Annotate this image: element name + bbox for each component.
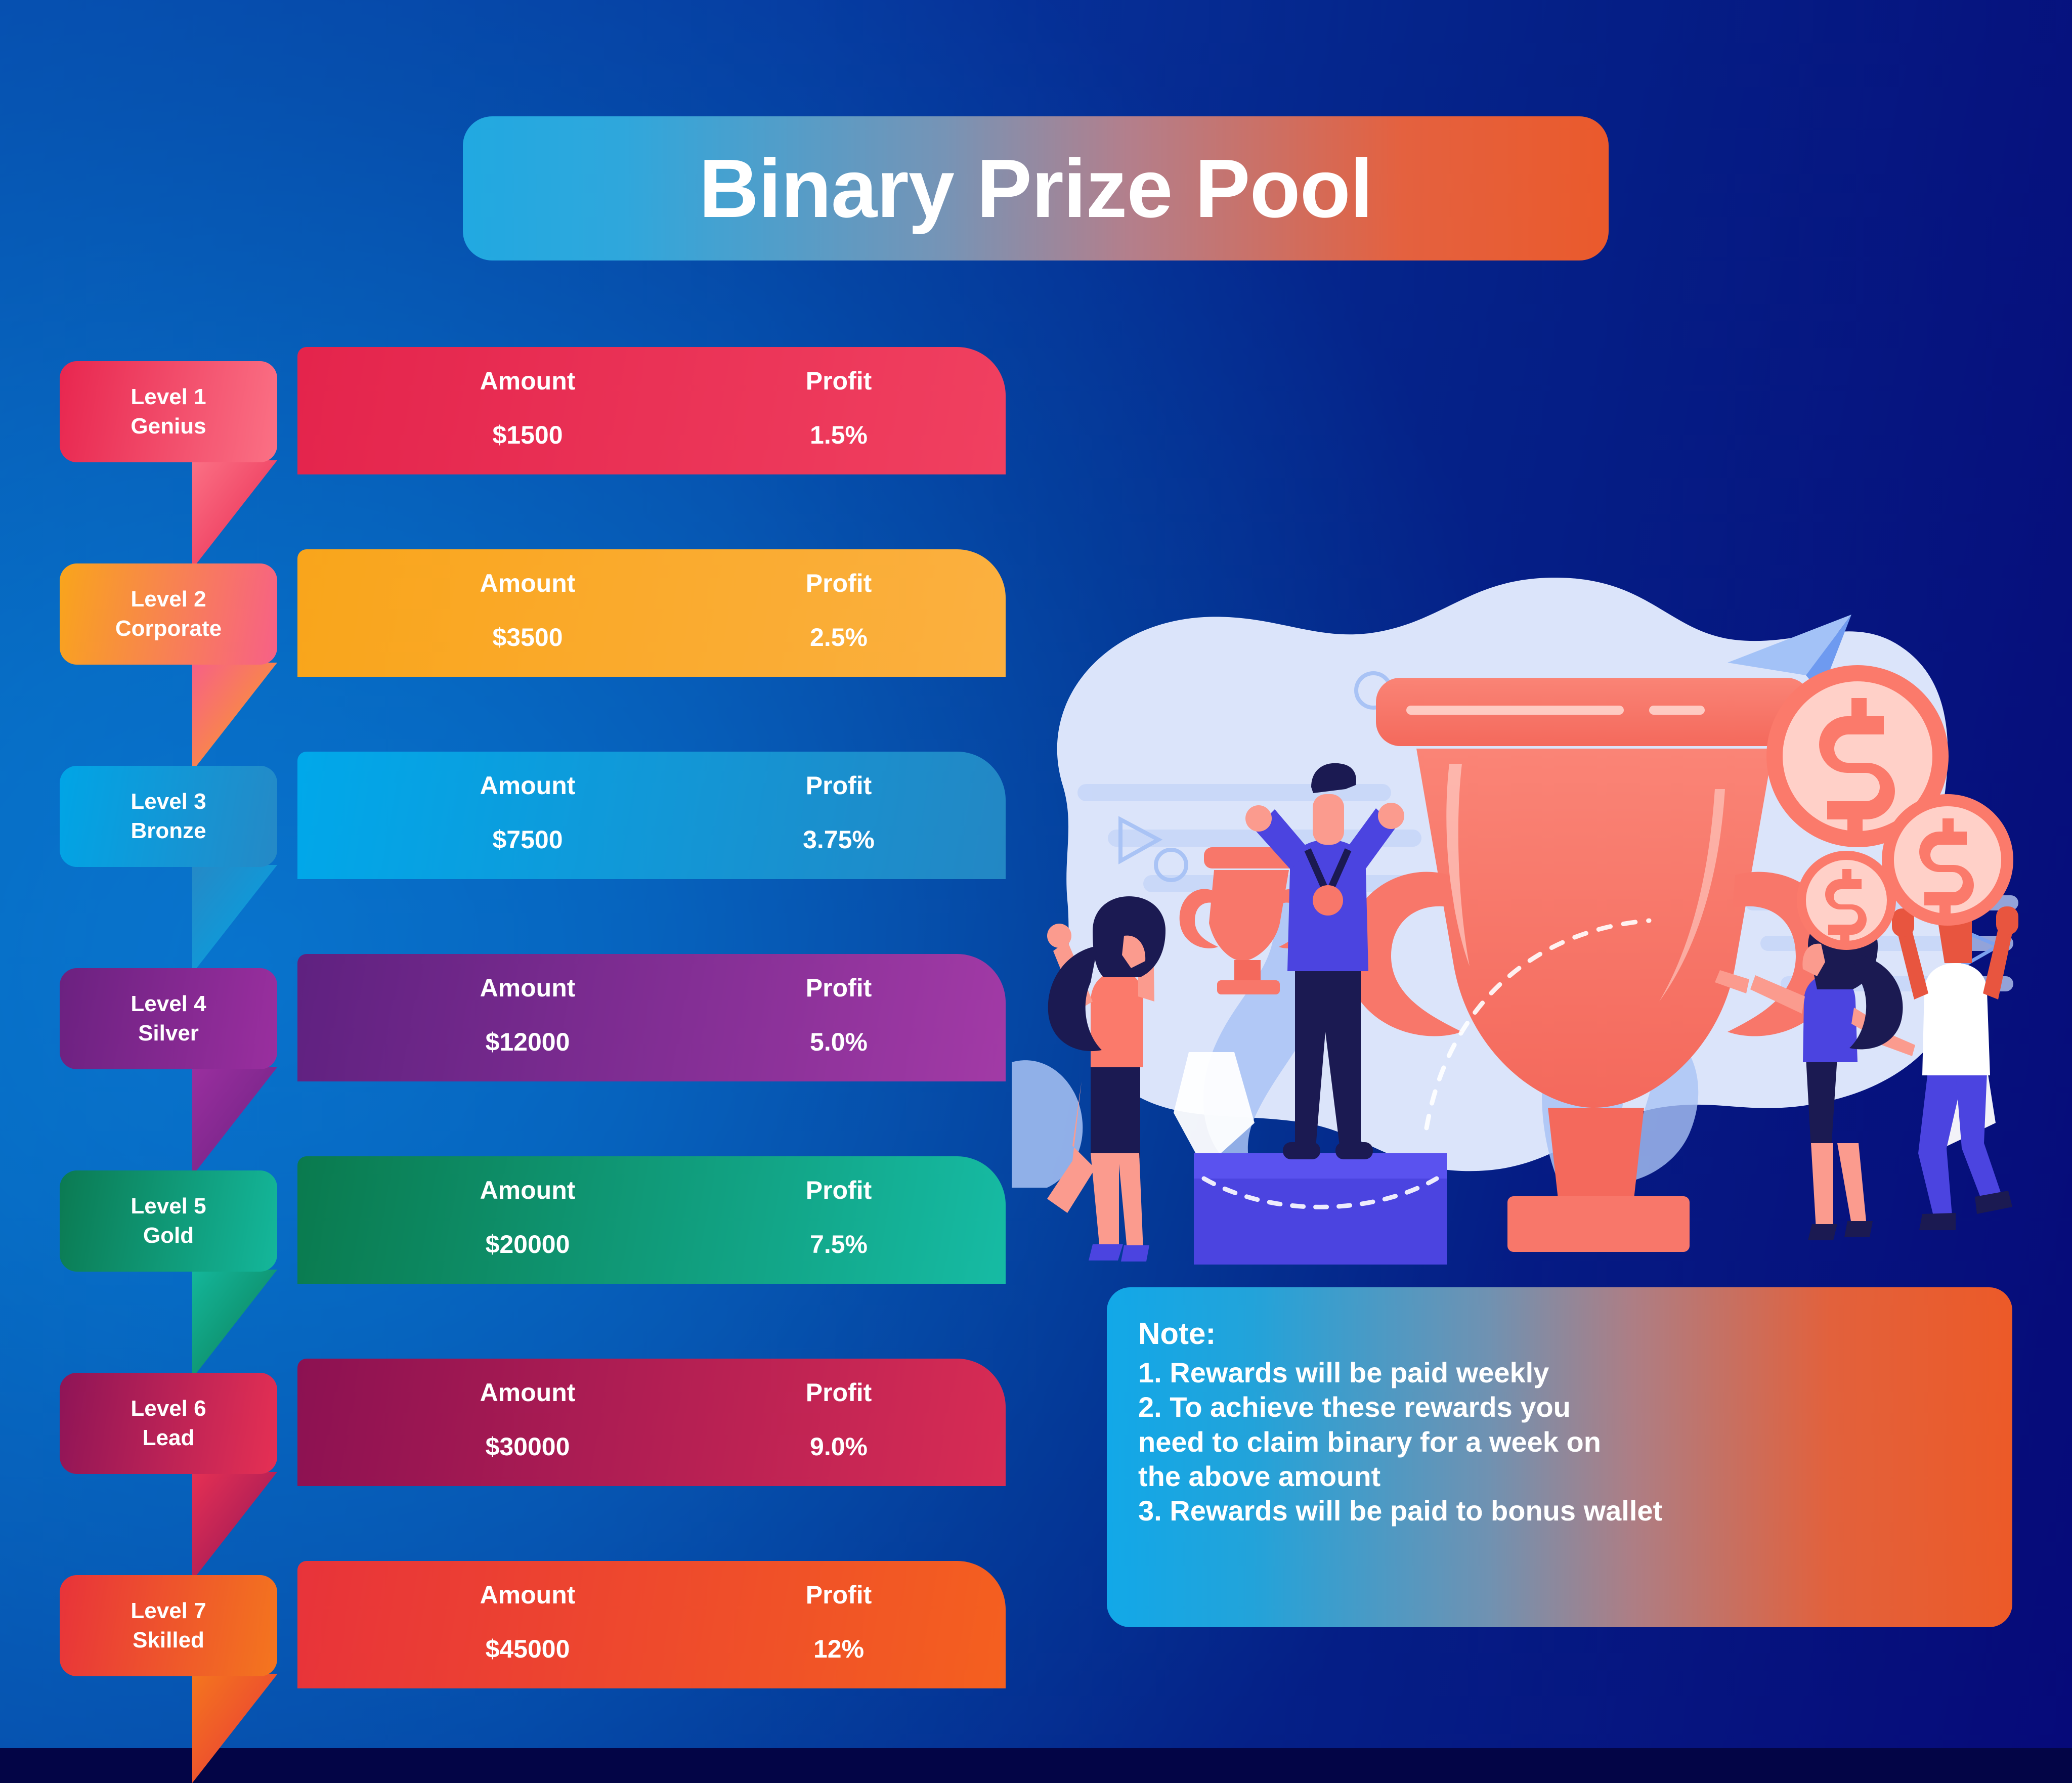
prize-level-bar: Amount$3500Profit2.5%: [297, 549, 1006, 677]
profit-header: Profit: [806, 1379, 872, 1407]
prize-level-bar: Amount$45000Profit12%: [297, 1561, 1006, 1688]
level-number: Level 1: [131, 382, 206, 412]
note-line: 3. Rewards will be paid to bonus wallet: [1138, 1494, 2012, 1528]
prize-level-bar: Amount$12000Profit5.0%: [297, 954, 1006, 1081]
profit-header: Profit: [806, 570, 872, 597]
note-title: Note:: [1138, 1315, 2012, 1353]
level-rank: Bronze: [131, 816, 206, 846]
amount-value: $12000: [486, 1028, 570, 1056]
amount-value: $30000: [486, 1433, 570, 1461]
profit-header: Profit: [806, 974, 872, 1002]
level-tab[interactable]: Level 7Skilled: [60, 1575, 277, 1676]
profit-column: Profit7.5%: [748, 1177, 930, 1258]
amount-column: Amount$1500: [421, 367, 634, 449]
amount-header: Amount: [480, 1177, 576, 1204]
amount-column: Amount$12000: [421, 974, 634, 1056]
profit-value: 7.5%: [810, 1231, 868, 1258]
level-number: Level 7: [131, 1596, 206, 1626]
level-rank: Genius: [131, 412, 206, 441]
amount-value: $3500: [492, 624, 563, 651]
profit-value: 3.75%: [803, 826, 875, 854]
profit-column: Profit3.75%: [748, 772, 930, 854]
note-line: 1. Rewards will be paid weekly: [1138, 1356, 2012, 1390]
profit-header: Profit: [806, 367, 872, 395]
level-tab[interactable]: Level 1Genius: [60, 361, 277, 462]
prize-level-row[interactable]: Amount$20000Profit7.5%Level 5Gold: [0, 1170, 1062, 1302]
amount-value: $20000: [486, 1231, 570, 1258]
winner-podium: [1194, 1153, 1447, 1265]
dollar-coin: [1797, 851, 1896, 950]
dollar-coin: [1882, 794, 2013, 926]
note-line-list: 1. Rewards will be paid weekly2. To achi…: [1138, 1356, 2012, 1529]
level-rank: Silver: [138, 1019, 199, 1048]
amount-header: Amount: [480, 1581, 576, 1609]
level-rank: Gold: [143, 1221, 194, 1250]
amount-column: Amount$30000: [421, 1379, 634, 1461]
profit-column: Profit9.0%: [748, 1379, 930, 1461]
level-rank: Corporate: [115, 614, 222, 643]
level-number: Level 2: [131, 585, 206, 614]
profit-header: Profit: [806, 1177, 872, 1204]
amount-header: Amount: [480, 367, 576, 395]
level-number: Level 6: [131, 1394, 206, 1423]
profit-value: 1.5%: [810, 421, 868, 449]
amount-value: $7500: [492, 826, 563, 854]
prize-level-row[interactable]: Amount$12000Profit5.0%Level 4Silver: [0, 968, 1062, 1100]
level-rank: Skilled: [133, 1626, 204, 1655]
profit-value: 5.0%: [810, 1028, 868, 1056]
level-tab[interactable]: Level 4Silver: [60, 968, 277, 1069]
prize-level-row[interactable]: Amount$7500Profit3.75%Level 3Bronze: [0, 766, 1062, 897]
prize-level-row[interactable]: Amount$1500Profit1.5%Level 1Genius: [0, 361, 1062, 493]
page-title: Binary Prize Pool: [699, 147, 1373, 230]
profit-value: 2.5%: [810, 624, 868, 651]
amount-column: Amount$20000: [421, 1177, 634, 1258]
note-box: Note: 1. Rewards will be paid weekly2. T…: [1107, 1287, 2012, 1627]
amount-header: Amount: [480, 570, 576, 597]
level-tab[interactable]: Level 2Corporate: [60, 563, 277, 665]
profit-value: 12%: [813, 1635, 864, 1663]
amount-column: Amount$7500: [421, 772, 634, 854]
amount-header: Amount: [480, 772, 576, 800]
profit-header: Profit: [806, 1581, 872, 1609]
prize-level-row[interactable]: Amount$45000Profit12%Level 7Skilled: [0, 1575, 1062, 1707]
prize-level-bar: Amount$30000Profit9.0%: [297, 1359, 1006, 1486]
prize-level-bar: Amount$7500Profit3.75%: [297, 752, 1006, 879]
profit-value: 9.0%: [810, 1433, 868, 1461]
profit-column: Profit2.5%: [748, 570, 930, 651]
profit-column: Profit5.0%: [748, 974, 930, 1056]
trophy-celebration-illustration: [991, 546, 2069, 1265]
prize-level-row[interactable]: Amount$30000Profit9.0%Level 6Lead: [0, 1373, 1062, 1504]
amount-value: $1500: [492, 421, 563, 449]
prize-level-row[interactable]: Amount$3500Profit2.5%Level 2Corporate: [0, 563, 1062, 695]
level-number: Level 5: [131, 1192, 206, 1221]
prize-level-bar: Amount$1500Profit1.5%: [297, 347, 1006, 474]
level-rank: Lead: [143, 1423, 195, 1453]
prize-level-bar: Amount$20000Profit7.5%: [297, 1156, 1006, 1284]
level-tab[interactable]: Level 3Bronze: [60, 766, 277, 867]
note-line: 2. To achieve these rewards you: [1138, 1390, 2012, 1424]
note-line: need to claim binary for a week on: [1138, 1425, 2012, 1459]
amount-header: Amount: [480, 974, 576, 1002]
page-title-banner: Binary Prize Pool: [463, 116, 1609, 260]
amount-column: Amount$3500: [421, 570, 634, 651]
level-tab[interactable]: Level 5Gold: [60, 1170, 277, 1272]
profit-column: Profit1.5%: [748, 367, 930, 449]
amount-column: Amount$45000: [421, 1581, 634, 1663]
note-line: the above amount: [1138, 1459, 2012, 1494]
profit-column: Profit12%: [748, 1581, 930, 1663]
amount-value: $45000: [486, 1635, 570, 1663]
level-tab[interactable]: Level 6Lead: [60, 1373, 277, 1474]
profit-header: Profit: [806, 772, 872, 800]
level-number: Level 3: [131, 787, 206, 816]
level-number: Level 4: [131, 989, 206, 1019]
amount-header: Amount: [480, 1379, 576, 1407]
